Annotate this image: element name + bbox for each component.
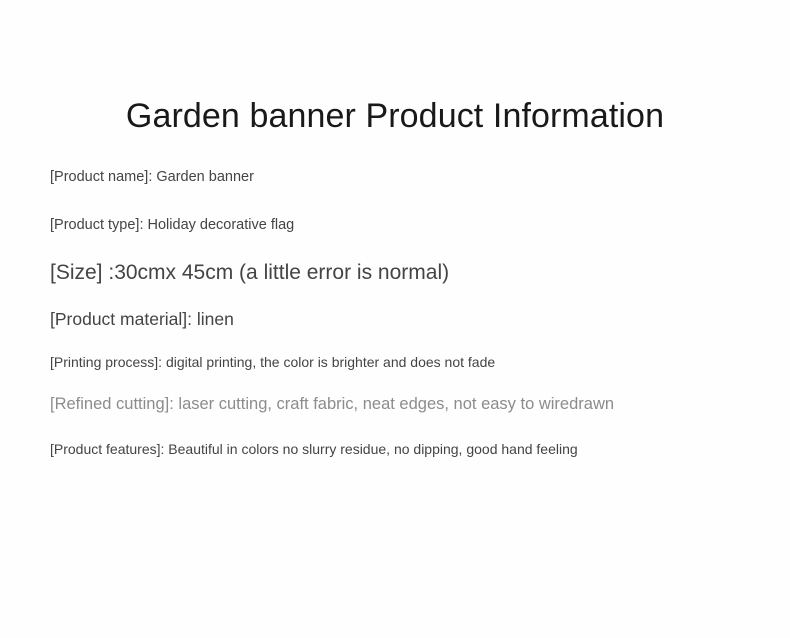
spec-line-printing-process: [Printing process]: digital printing, th… [50, 354, 750, 372]
product-information-page: Garden banner Product Information [Produ… [0, 0, 790, 638]
spec-line-product-name: [Product name]: Garden banner [50, 168, 750, 186]
spec-line-size: [Size] :30cmx 45cm (a little error is no… [50, 260, 750, 286]
spec-line-product-type: [Product type]: Holiday decorative flag [50, 216, 750, 234]
page-title: Garden banner Product Information [0, 97, 790, 136]
product-spec-list: [Product name]: Garden banner [Product t… [50, 168, 750, 458]
spec-line-product-material: [Product material]: linen [50, 309, 750, 331]
spec-line-refined-cutting: [Refined cutting]: laser cutting, craft … [50, 394, 750, 415]
spec-line-product-features: [Product features]: Beautiful in colors … [50, 441, 750, 459]
